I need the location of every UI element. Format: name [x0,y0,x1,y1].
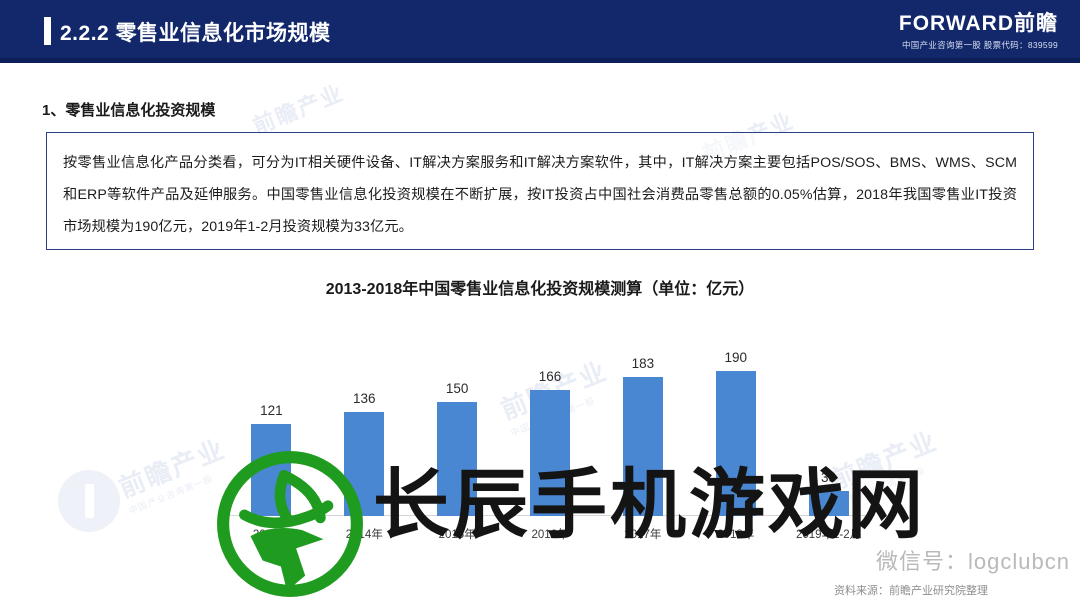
wechat-watermark: 微信号：logclubcn [876,544,1070,576]
description-paragraph: 按零售业信息化产品分类看，可分为IT相关硬件设备、IT解决方案服务和IT解决方案… [63,147,1017,243]
brand-logo-subtitle: 中国产业咨询第一股 股票代码：839599 [899,39,1058,51]
bar-value-label: 121 [236,403,306,418]
bar-value-label: 190 [701,350,771,365]
description-textbox: 按零售业信息化产品分类看，可分为IT相关硬件设备、IT解决方案服务和IT解决方案… [46,132,1034,250]
source-note: 资料来源：前瞻产业研究院整理 [834,582,988,598]
bar-value-label: 166 [515,369,585,384]
brand-logo: FORWARD前瞻 中国产业咨询第一股 股票代码：839599 [899,12,1058,51]
green-antelope-logo-watermark [214,448,366,600]
page-header: 2.2.2 零售业信息化市场规模 FORWARD前瞻 中国产业咨询第一股 股票代… [0,0,1080,58]
background-watermark-circle-1 [58,470,120,532]
section-heading: 1、零售业信息化投资规模 [42,99,215,120]
chart-title: 2013-2018年中国零售业信息化投资规模测算（单位：亿元） [0,275,1080,299]
brand-logo-text: FORWARD前瞻 [899,12,1058,35]
bar-value-label: 150 [422,381,492,396]
header-underline [0,58,1080,63]
page-title: 2.2.2 零售业信息化市场规模 [60,17,331,47]
site-watermark-text: 长辰手机游戏网 [373,468,926,544]
background-watermark-4: 前瞻产业 [248,75,349,141]
title-accent-bar [44,17,51,45]
bar-value-label: 136 [329,391,399,406]
bar-value-label: 183 [608,356,678,371]
